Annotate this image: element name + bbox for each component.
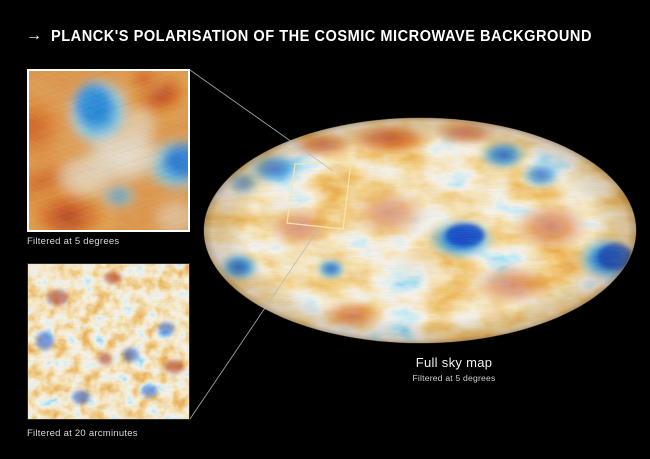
full-sky-map-title: Full sky map [389,355,519,370]
panel-bottom-caption: Filtered at 20 arcminutes [27,428,138,439]
filtered-5-degrees-panel [27,69,190,232]
full-sky-map-label: Full sky map Filtered at 5 degrees [389,355,519,383]
page-title-text: Planck's polarisation of the Cosmic Micr… [51,28,592,46]
page-title: → Planck's polarisation of the Cosmic Mi… [26,28,627,46]
full-sky-map [203,117,637,344]
panel-top-image [29,71,188,230]
filtered-20-arcminutes-panel [27,263,190,420]
arrow-right-icon: → [26,28,42,44]
full-sky-map-subtitle: Filtered at 5 degrees [389,373,519,383]
panel-bottom-image [28,264,189,419]
full-sky-map-image [203,117,637,344]
panel-top-caption: Filtered at 5 degrees [27,236,119,247]
planck-cmb-figure: → Planck's polarisation of the Cosmic Mi… [0,0,650,459]
